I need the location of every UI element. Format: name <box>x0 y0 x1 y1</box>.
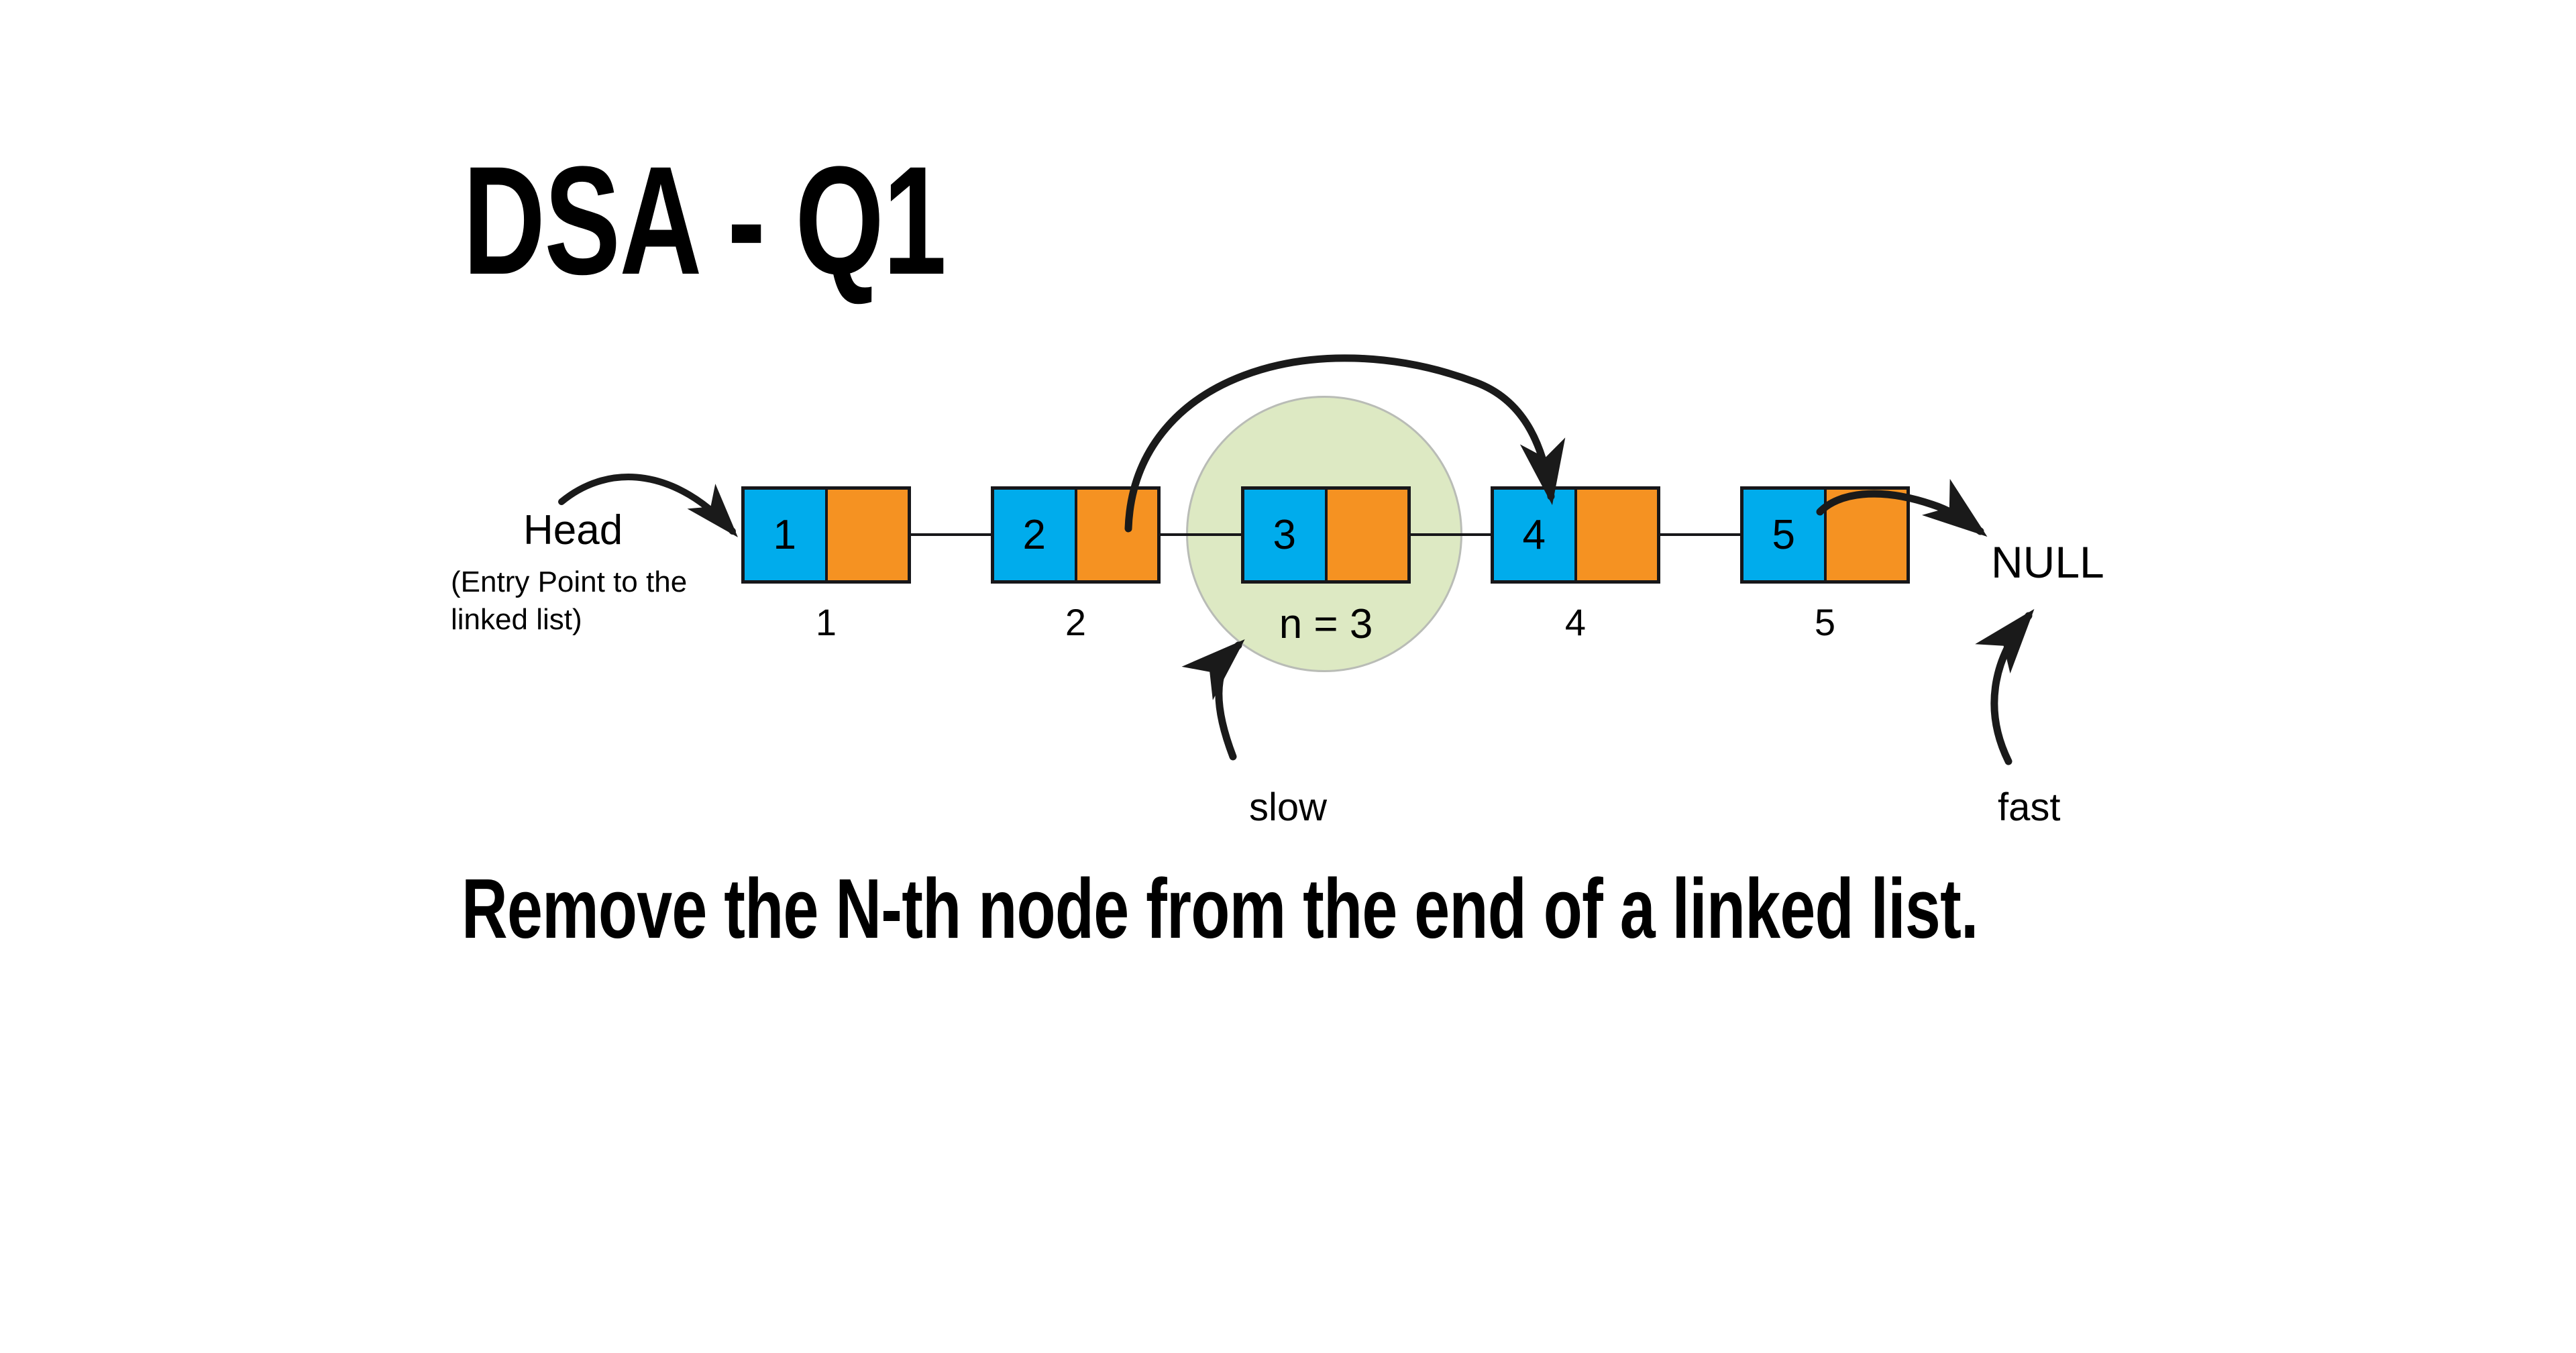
node-value: 5 <box>1743 515 1824 556</box>
node-pointer-cell <box>1328 490 1408 580</box>
slide-canvas: DSA - Q1 1 1 2 2 3 n = 3 4 4 <box>0 0 2576 1353</box>
node-index-label: 2 <box>991 604 1161 641</box>
list-node[interactable]: 3 <box>1241 486 1411 584</box>
arrow-overlay <box>0 0 2576 1353</box>
node-value: 2 <box>994 515 1075 556</box>
head-label: Head <box>523 510 623 551</box>
list-node[interactable]: 2 <box>991 486 1161 584</box>
list-node[interactable]: 1 <box>741 486 911 584</box>
slow-pointer-arrow <box>1219 645 1238 757</box>
node-pointer-cell <box>1827 490 1907 580</box>
connector-1-2 <box>911 533 994 536</box>
connector-2-3 <box>1161 533 1244 536</box>
node-data-cell: 5 <box>1743 490 1827 580</box>
head-sublabel: (Entry Point to the linked list) <box>451 563 733 639</box>
list-node[interactable]: 5 <box>1740 486 1910 584</box>
n-value-label: n = 3 <box>1241 604 1411 645</box>
node-value: 1 <box>745 515 825 556</box>
node-index-label: 4 <box>1491 604 1660 641</box>
node-pointer-cell <box>1077 490 1158 580</box>
node-value: 4 <box>1494 515 1574 556</box>
node-value: 3 <box>1244 515 1325 556</box>
node-data-cell: 4 <box>1494 490 1577 580</box>
fast-pointer-arrow <box>1994 616 2029 761</box>
node-index-label: 1 <box>741 604 911 641</box>
node-index-label: 5 <box>1740 604 1910 641</box>
connector-4-5 <box>1660 533 1743 536</box>
node-data-cell: 1 <box>745 490 828 580</box>
node-pointer-cell <box>828 490 908 580</box>
node-pointer-cell <box>1577 490 1658 580</box>
page-title: DSA - Q1 <box>463 144 945 298</box>
node-data-cell: 2 <box>994 490 1077 580</box>
list-node[interactable]: 4 <box>1491 486 1660 584</box>
page-caption: Remove the N-th node from the end of a l… <box>462 867 1978 951</box>
slow-pointer-label: slow <box>1249 788 1327 827</box>
node-data-cell: 3 <box>1244 490 1328 580</box>
null-label: NULL <box>1991 540 2104 584</box>
connector-3-4 <box>1411 533 1494 536</box>
fast-pointer-label: fast <box>1998 788 2061 827</box>
